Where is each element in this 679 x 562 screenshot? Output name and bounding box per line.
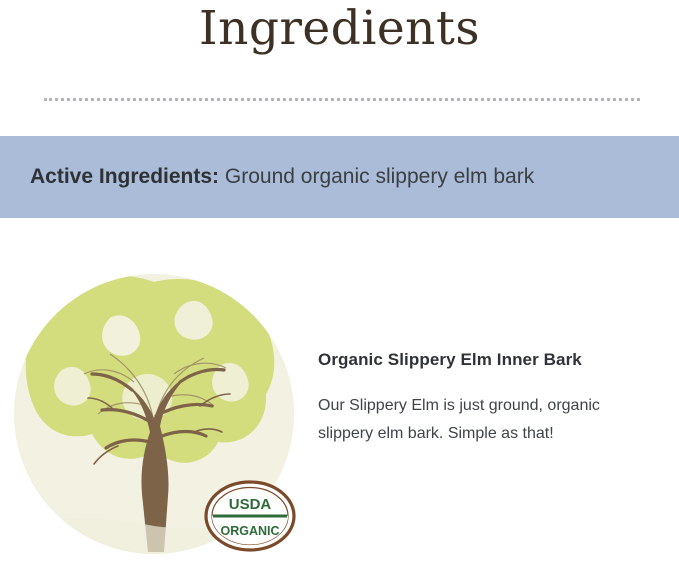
ingredient-heading: Organic Slippery Elm Inner Bark bbox=[318, 350, 648, 370]
usda-seal-top-text: USDA bbox=[229, 496, 272, 513]
active-ingredients-band: Active Ingredients: Ground organic slipp… bbox=[0, 136, 679, 218]
page-title: Ingredients bbox=[0, 0, 679, 56]
ingredient-description: Our Slippery Elm is just ground, organic… bbox=[318, 392, 648, 448]
ingredient-detail-section: USDA ORGANIC Organic Slippery Elm Inner … bbox=[0, 268, 679, 562]
usda-organic-seal-svg: USDA ORGANIC bbox=[204, 480, 296, 552]
usda-seal-bottom-text: ORGANIC bbox=[220, 524, 279, 538]
ingredient-text-column: Organic Slippery Elm Inner Bark Our Slip… bbox=[318, 350, 648, 448]
dotted-divider bbox=[44, 98, 640, 101]
usda-organic-seal: USDA ORGANIC bbox=[204, 480, 296, 552]
illustration-wrapper: USDA ORGANIC bbox=[14, 274, 294, 554]
active-ingredients-label: Active Ingredients: bbox=[30, 165, 219, 188]
active-ingredients-text: Active Ingredients: Ground organic slipp… bbox=[0, 163, 534, 190]
active-ingredients-value: Ground organic slippery elm bark bbox=[225, 165, 534, 188]
